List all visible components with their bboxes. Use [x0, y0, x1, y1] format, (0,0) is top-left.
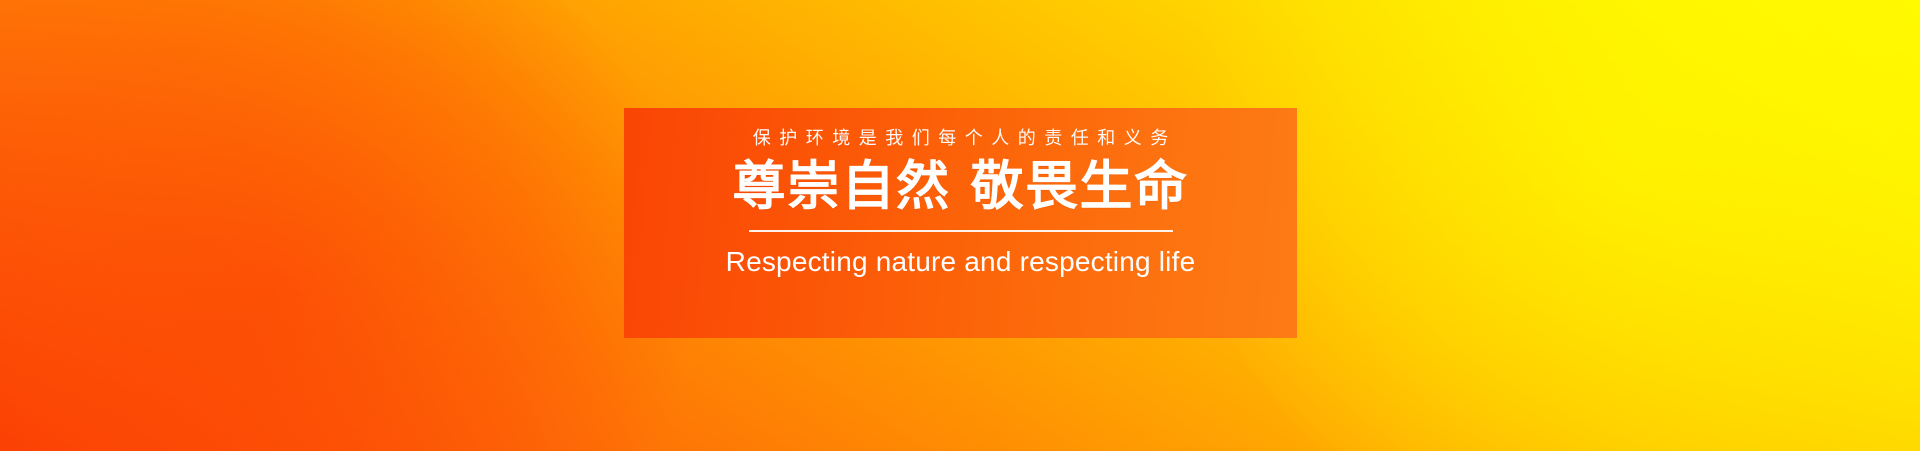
environmental-banner: 保护环境是我们每个人的责任和义务 尊崇自然敬畏生命 Respecting nat…: [0, 0, 1920, 451]
headline-phrase-one: 尊崇自然: [733, 157, 951, 216]
slogan-panel: 保护环境是我们每个人的责任和义务 尊崇自然敬畏生命 Respecting nat…: [624, 108, 1297, 338]
headline-phrase-two: 敬畏生命: [971, 157, 1189, 216]
slogan-headline: 尊崇自然敬畏生命: [733, 157, 1189, 216]
background-glow-left: [0, 0, 720, 451]
slogan-subtitle-english: Respecting nature and respecting life: [726, 245, 1196, 279]
slogan-divider: [749, 230, 1173, 232]
slogan-kicker: 保护环境是我们每个人的责任和义务: [744, 129, 1177, 149]
